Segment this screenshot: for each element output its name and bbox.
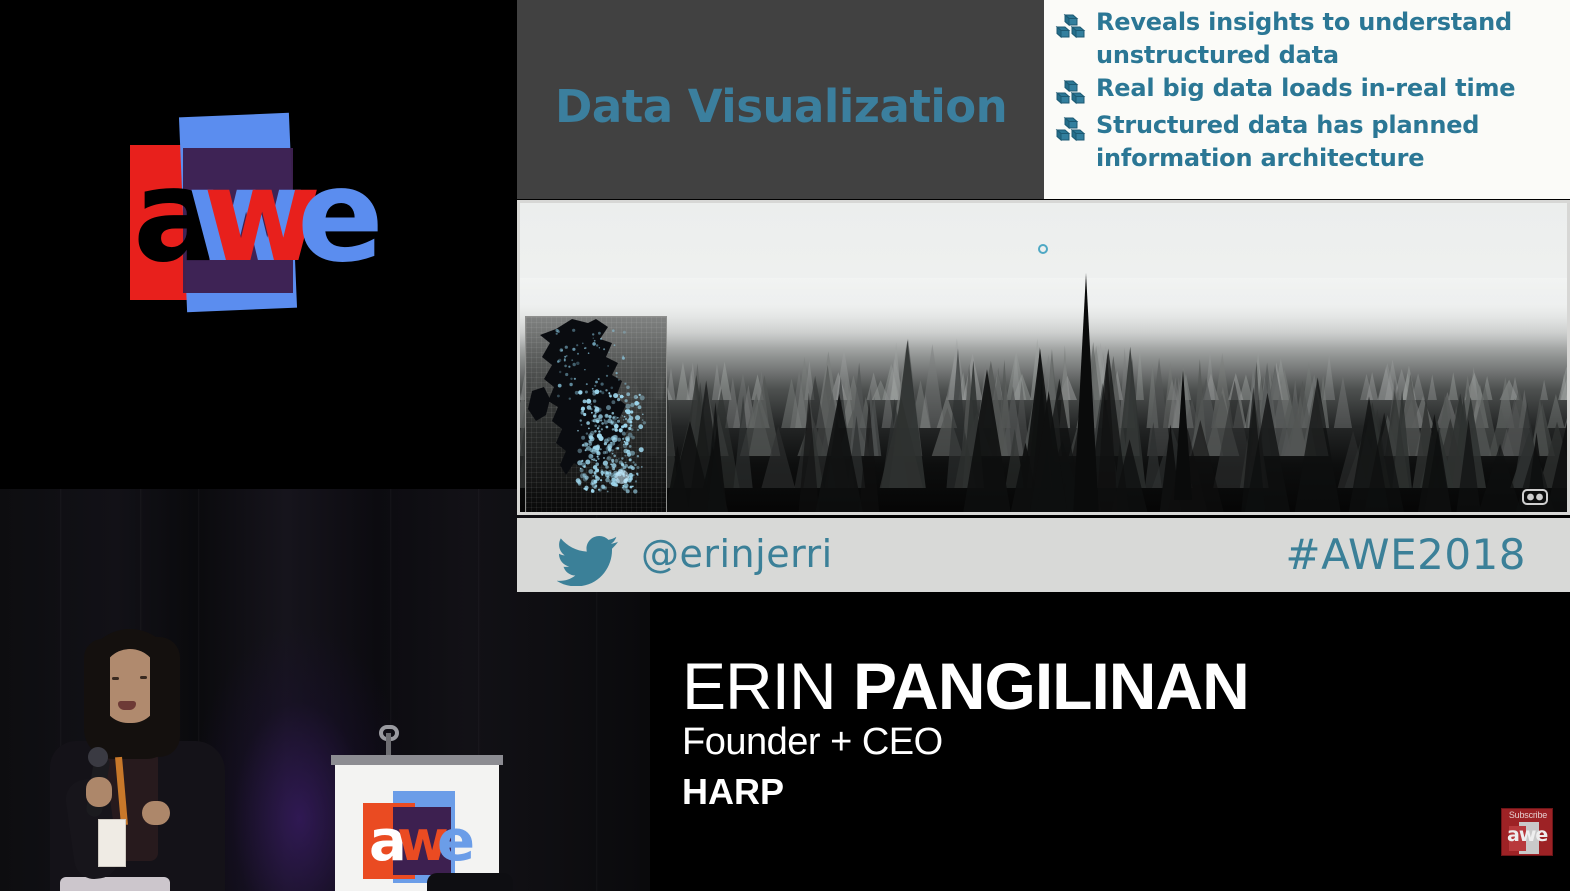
speaker-figure (50, 629, 230, 891)
speaker-skirt (60, 877, 170, 891)
speaker-hand-right (142, 801, 170, 825)
awe-logo: a w w e (125, 110, 395, 335)
speaker-role: Founder + CEO (682, 721, 943, 764)
subscribe-logo-wordmark: awe (1507, 826, 1549, 845)
list-item-label: Structured data has planned information … (1096, 109, 1560, 175)
speaker-name: ERIN PANGILINAN (682, 648, 1249, 724)
logo-letter-e: e (297, 157, 380, 277)
twitter-handle: @erinjerri (641, 532, 833, 576)
slide-header: Data Visualization (517, 0, 1570, 199)
speaker-hair-left (84, 639, 110, 744)
speaker-hand-left (86, 777, 112, 807)
slide-title: Data Visualization (555, 80, 1007, 133)
podium: a w e (331, 755, 503, 891)
cubes-icon (1052, 79, 1088, 109)
podium-foreground-object (427, 873, 513, 891)
list-item-label: Real big data loads in-real time (1096, 72, 1515, 105)
speaker-first-name: ERIN (682, 649, 836, 723)
slide-footer: @erinjerri #AWE2018 (517, 518, 1570, 592)
list-item: Structured data has planned information … (1052, 109, 1560, 175)
cubes-icon (1052, 116, 1088, 146)
cubes-icon (1052, 13, 1088, 43)
list-item: Real big data loads in-real time (1052, 72, 1560, 109)
data-visualization-image (517, 200, 1570, 515)
presentation-slide: Data Visualization (517, 0, 1570, 593)
podium-logo-letter-e: e (437, 817, 473, 867)
awe-logo-panel: a w w e (0, 0, 517, 489)
subscribe-awe-logo: awe (1507, 822, 1549, 854)
list-item-label: Reveals insights to understand unstructu… (1096, 6, 1560, 72)
speaker-company: HARP (682, 771, 784, 813)
podium-mic-arm (386, 733, 391, 757)
subscribe-button[interactable]: Subscribe awe (1501, 808, 1553, 856)
podium-top-edge (331, 755, 503, 765)
list-item: Reveals insights to understand unstructu… (1052, 6, 1560, 72)
speaker-eye (112, 677, 119, 680)
event-hashtag: #AWE2018 (1285, 530, 1526, 579)
podium-awe-logo: a w e (363, 791, 475, 883)
video-stream-composite: a w w e (0, 0, 1570, 891)
speaker-eye (140, 676, 147, 679)
logo-wordmark: a w w e (125, 152, 395, 292)
speaker-badge (98, 819, 126, 867)
lower-third-banner: ERIN PANGILINAN Founder + CEO HARP (650, 593, 1570, 891)
slide-title-panel: Data Visualization (517, 0, 1044, 199)
speaker-mouth (118, 701, 136, 710)
subscribe-label: Subscribe (1502, 810, 1554, 820)
slide-bullet-list: Reveals insights to understand unstructu… (1044, 0, 1570, 199)
speaker-last-name: PANGILINAN (853, 649, 1249, 723)
twitter-bird-icon (557, 534, 619, 582)
speaker-hair-right (150, 637, 180, 757)
viz-frame-border (517, 200, 1570, 515)
